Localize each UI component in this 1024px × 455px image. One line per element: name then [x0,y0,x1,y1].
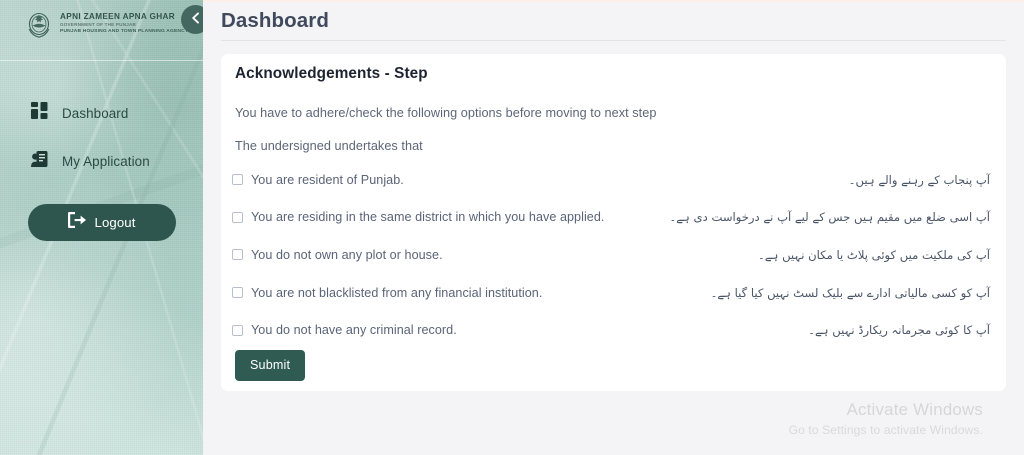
watermark-title: Activate Windows [789,400,983,420]
sidebar-item-my-application[interactable]: My Application [0,140,203,182]
acknowledgement-checkbox[interactable] [232,212,243,223]
sidebar-item-label: My Application [62,154,150,169]
acknowledgement-label-ur: آپ کی ملکیت میں کوئی پلاٹ یا مکان نہیں ہ… [758,248,990,262]
sidebar-item-dashboard[interactable]: Dashboard [0,92,203,134]
windows-activation-watermark: Activate Windows Go to Settings to activ… [789,400,983,437]
acknowledgement-row: You are residing in the same district in… [221,199,1006,237]
acknowledgements-list: You are resident of Punjab. آپ پنجاب کے … [221,161,1006,349]
acknowledgement-label-ur: آپ کو کسی مالیاتی ادارے سے بلیک لسٹ نہیں… [711,286,990,300]
brand-block: APNI ZAMEEN APNA GHAR GOVERNMENT OF THE … [0,0,203,47]
acknowledgement-left: You do not have any criminal record. [221,323,457,337]
logout-button[interactable]: Logout [28,204,176,241]
sidebar-divider [0,60,203,61]
page-title-divider [221,40,1006,41]
logout-label: Logout [95,215,136,230]
brand-text: APNI ZAMEEN APNA GHAR GOVERNMENT OF THE … [60,13,188,34]
chevron-left-icon [190,11,202,29]
acknowledgement-left: You do not own any plot or house. [221,248,443,262]
grid-icon [31,102,48,124]
acknowledgement-checkbox[interactable] [232,325,243,336]
acknowledgement-label-en: You do not own any plot or house. [251,248,443,262]
acknowledgement-label-en: You are not blacklisted from any financi… [251,286,542,300]
acknowledgement-row: You do not own any plot or house. آپ کی … [221,236,1006,274]
acknowledgement-label-ur: آپ کا کوئی مجرمانہ ریکارڈ نہیں ہے۔ [808,323,990,337]
acknowledgement-checkbox[interactable] [232,287,243,298]
page-title: Dashboard [221,9,329,33]
main-content: Dashboard Acknowledgements - Step You ha… [203,0,1024,455]
acknowledgement-label-ur: آپ اسی ضلع میں مقیم ہیں جس کے لیے آپ نے … [669,210,990,224]
government-crest-icon [26,10,52,38]
acknowledgement-left: You are not blacklisted from any financi… [221,286,542,300]
sidebar: APNI ZAMEEN APNA GHAR GOVERNMENT OF THE … [0,0,203,455]
intro-text-1: You have to adhere/check the following o… [235,106,656,120]
acknowledgement-label-en: You are residing in the same district in… [251,210,604,224]
sidebar-collapse-toggle[interactable] [181,5,203,34]
acknowledgement-label-en: You are resident of Punjab. [251,173,404,187]
acknowledgement-checkbox[interactable] [232,249,243,260]
submit-button[interactable]: Submit [235,350,305,381]
brand-line-1: APNI ZAMEEN APNA GHAR [60,13,188,22]
acknowledgement-left: You are resident of Punjab. [221,173,404,187]
acknowledgements-card: Acknowledgements - Step You have to adhe… [221,54,1006,391]
sidebar-item-label: Dashboard [62,106,128,121]
card-title: Acknowledgements - Step [235,65,428,83]
intro-text-2: The undersigned undertakes that [235,139,423,153]
acknowledgement-label-en: You do not have any criminal record. [251,323,457,337]
logout-icon [68,212,86,233]
acknowledgement-label-ur: آپ پنجاب کے رہنے والے ہیں۔ [849,173,990,187]
watermark-subtitle: Go to Settings to activate Windows. [789,423,983,437]
acknowledgement-row: You do not have any criminal record. آپ … [221,311,1006,349]
acknowledgement-left: You are residing in the same district in… [221,210,604,224]
acknowledgement-row: You are resident of Punjab. آپ پنجاب کے … [221,161,1006,199]
acknowledgement-checkbox[interactable] [232,174,243,185]
acknowledgement-row: You are not blacklisted from any financi… [221,274,1006,312]
brand-line-2: GOVERNMENT OF THE PUNJAB [60,23,188,28]
top-accent-bar [203,0,1024,2]
brand-line-3: PUNJAB HOUSING AND TOWN PLANNING AGENCY [60,29,188,34]
application-form-icon [31,150,48,173]
